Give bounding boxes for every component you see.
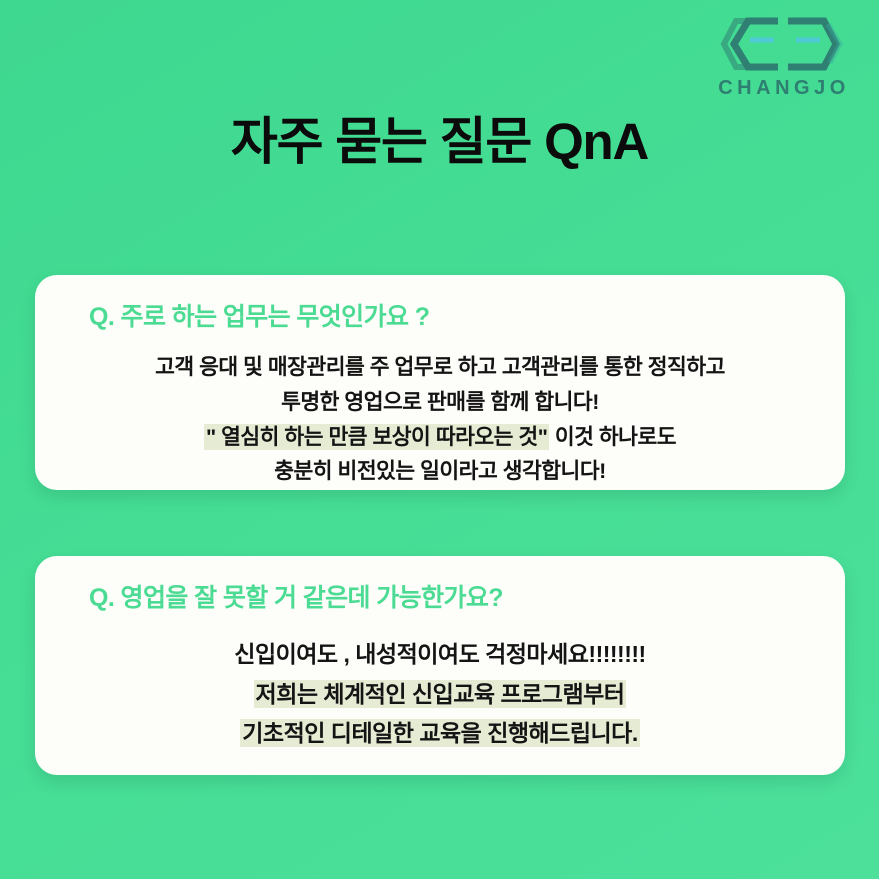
answer-text: 충분히 비전있는 일이라고 생각합니다! bbox=[274, 459, 606, 483]
faq-answer: 고객 응대 및 매장관리를 주 업무로 하고 고객관리를 통한 정직하고 투명한… bbox=[65, 350, 815, 489]
answer-text: 신입이여도 , 내성적이여도 걱정마세요!!!!!!!! bbox=[234, 641, 645, 667]
brand-wordmark: CHANGJO bbox=[714, 78, 850, 98]
faq-card: Q. 영업을 잘 못할 거 같은데 가능한가요? 신입이여도 , 내성적이여도 … bbox=[35, 556, 845, 775]
answer-line: 충분히 비전있는 일이라고 생각합니다! bbox=[65, 454, 815, 489]
answer-line: 기초적인 디테일한 교육을 진행해드립니다. bbox=[65, 714, 815, 754]
changjo-cj-monogram-icon bbox=[716, 14, 848, 74]
faq-card: Q. 주로 하는 업무는 무엇인가요 ? 고객 응대 및 매장관리를 주 업무로… bbox=[35, 275, 845, 490]
answer-line: 저희는 체계적인 신입교육 프로그램부터 bbox=[65, 675, 815, 715]
faq-poster: CHANGJO 자주 묻는 질문 QnA Q. 주로 하는 업무는 무엇인가요 … bbox=[0, 0, 879, 879]
answer-line: " 열심히 하는 만큼 보상이 따라오는 것" 이것 하나로도 bbox=[65, 420, 815, 455]
page-title: 자주 묻는 질문 QnA bbox=[0, 113, 879, 172]
answer-highlight: 저희는 체계적인 신입교육 프로그램부터 bbox=[254, 680, 627, 708]
faq-answer: 신입이여도 , 내성적이여도 걱정마세요!!!!!!!! 저희는 체계적인 신입… bbox=[65, 635, 815, 754]
faq-question: Q. 주로 하는 업무는 무엇인가요 ? bbox=[89, 302, 815, 332]
answer-highlight: 기초적인 디테일한 교육을 진행해드립니다. bbox=[240, 719, 639, 747]
answer-line: 투명한 영업으로 판매를 함께 합니다! bbox=[65, 385, 815, 420]
answer-line: 고객 응대 및 매장관리를 주 업무로 하고 고객관리를 통한 정직하고 bbox=[65, 350, 815, 385]
answer-text: 이것 하나로도 bbox=[549, 425, 676, 449]
answer-line: 신입이여도 , 내성적이여도 걱정마세요!!!!!!!! bbox=[65, 635, 815, 675]
answer-text: 고객 응대 및 매장관리를 주 업무로 하고 고객관리를 통한 정직하고 bbox=[155, 355, 725, 379]
brand-logo: CHANGJO bbox=[707, 14, 857, 98]
answer-highlight: " 열심히 하는 만큼 보상이 따라오는 것" bbox=[204, 424, 549, 450]
faq-question: Q. 영업을 잘 못할 거 같은데 가능한가요? bbox=[89, 583, 815, 613]
answer-text: 투명한 영업으로 판매를 함께 합니다! bbox=[281, 390, 599, 414]
